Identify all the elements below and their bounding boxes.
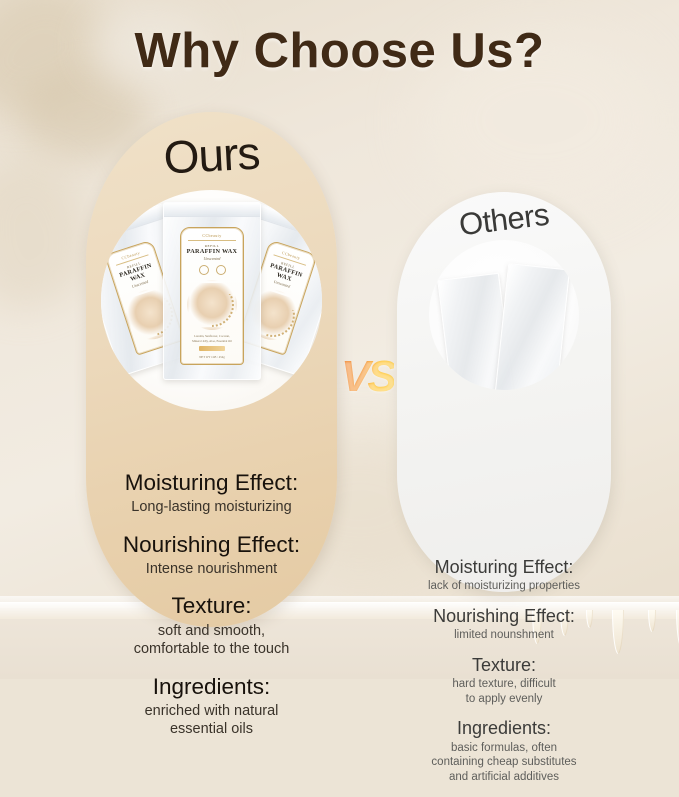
laurel-wreath-emblem bbox=[187, 280, 237, 330]
product-packet-front: CCbeauty REFILL PARAFFIN WAX Unscented L… bbox=[163, 202, 261, 380]
feature-heading: Nourishing Effect: bbox=[86, 532, 337, 557]
product-label-front: CCbeauty REFILL PARAFFIN WAX Unscented L… bbox=[180, 227, 244, 365]
vs-badge: VS bbox=[341, 355, 394, 399]
label-gold-chip bbox=[199, 346, 225, 351]
packet-seal bbox=[101, 204, 167, 246]
feature-description: enriched with natural essential oils bbox=[86, 702, 337, 739]
page-title: Why Choose Us? bbox=[0, 23, 679, 79]
feature-item: Texture:hard texture, difficult to apply… bbox=[397, 655, 611, 707]
feature-item: Moisturing Effect:lack of moisturizing p… bbox=[397, 557, 611, 594]
feature-item: Ingredients:enriched with natural essent… bbox=[86, 674, 337, 739]
feature-description: hard texture, difficult to apply evenly bbox=[397, 677, 611, 706]
packet-seal bbox=[164, 203, 260, 217]
feature-heading: Ingredients: bbox=[86, 674, 337, 699]
feature-description: basic formulas, often containing cheap s… bbox=[397, 741, 611, 785]
label-brand: CCbeauty bbox=[181, 233, 243, 238]
feature-description: soft and smooth, comfortable to the touc… bbox=[86, 622, 337, 659]
droplet-icon bbox=[216, 265, 226, 275]
wax-drip bbox=[648, 610, 656, 632]
feature-description: limited nounshment bbox=[397, 628, 611, 643]
label-icon-row bbox=[181, 265, 243, 275]
ours-feature-list: Moisturing Effect:Long-lasting moisturiz… bbox=[86, 470, 337, 754]
label-line2: PARAFFIN WAX bbox=[181, 248, 243, 255]
feature-description: Intense nourishment bbox=[86, 560, 337, 579]
others-feature-list: Moisturing Effect:lack of moisturizing p… bbox=[397, 557, 611, 797]
feature-item: Nourishing Effect:limited nounshment bbox=[397, 606, 611, 643]
wax-drip bbox=[612, 610, 624, 654]
ours-product-photo: CCbeauty REFILL PARAFFIN WAX Unscented C… bbox=[101, 190, 322, 411]
packet-seal bbox=[255, 204, 322, 246]
feature-item: Ingredients:basic formulas, often contai… bbox=[397, 718, 611, 784]
label-line3: Unscented bbox=[181, 256, 243, 261]
leaf-icon bbox=[199, 265, 209, 275]
panel-ours: Ours CCbeauty REFILL PARAFFIN WAX Unscen… bbox=[86, 112, 337, 627]
feature-item: Texture:soft and smooth, comfortable to … bbox=[86, 593, 337, 658]
feature-heading: Texture: bbox=[397, 655, 611, 675]
label-ingredients-footer: Lanolin, Sunflower, Coconut, Mineral Jel… bbox=[181, 334, 243, 343]
feature-item: Nourishing Effect:Intense nourishment bbox=[86, 532, 337, 579]
feature-heading: Moisturing Effect: bbox=[397, 557, 611, 577]
others-product-photo bbox=[429, 240, 579, 390]
feature-heading: Ingredients: bbox=[397, 718, 611, 738]
panel-others: Others Moisturing Effect:lack of moistur… bbox=[397, 192, 611, 592]
feature-description: Long-lasting moisturizing bbox=[86, 498, 337, 517]
plain-packet bbox=[494, 263, 570, 390]
feature-heading: Moisturing Effect: bbox=[86, 470, 337, 495]
wreath-ring bbox=[190, 283, 234, 327]
feature-heading: Texture: bbox=[86, 593, 337, 618]
label-divider bbox=[188, 240, 236, 241]
feature-heading: Nourishing Effect: bbox=[397, 606, 611, 626]
feature-description: lack of moisturizing properties bbox=[397, 579, 611, 594]
feature-item: Moisturing Effect:Long-lasting moisturiz… bbox=[86, 470, 337, 517]
label-net-weight: NET WT 1LB / 454g bbox=[181, 355, 243, 360]
